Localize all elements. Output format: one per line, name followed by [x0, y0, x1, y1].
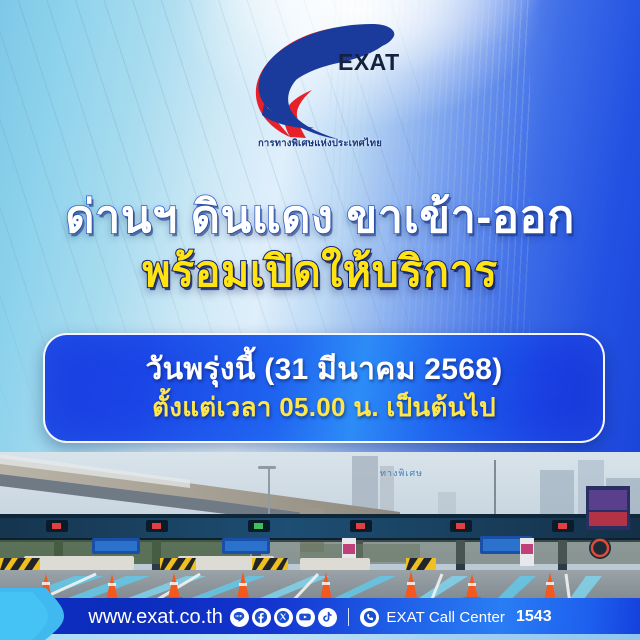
x-twitter-icon[interactable]: [274, 608, 293, 627]
date-info-box: วันพรุ่งนี้ (31 มีนาคม 2568) ตั้งแต่เวลา…: [43, 333, 605, 443]
date-line-1: วันพรุ่งนี้ (31 มีนาคม 2568): [145, 352, 502, 388]
exat-swoosh-logo-icon: EXAT: [240, 20, 400, 140]
toll-plaza-photo: ทางพิเศษ: [0, 452, 640, 604]
wave-accent-icon: [0, 588, 116, 640]
headline-line-2: พร้อมเปิดให้บริการ: [0, 248, 640, 296]
poster-canvas: EXAT การทางพิเศษแห่งประเทศไทย ด่านฯ ดินแ…: [0, 0, 640, 640]
tiktok-icon[interactable]: [318, 608, 337, 627]
headline-block: ด่านฯ ดินแดง ขาเข้า-ออก พร้อมเปิดให้บริก…: [0, 192, 640, 297]
exat-logo: EXAT การทางพิเศษแห่งประเทศไทย: [230, 20, 410, 151]
social-links: [230, 608, 337, 627]
youtube-icon[interactable]: [296, 608, 315, 627]
date-line-2: ตั้งแต่เวลา 05.00 น. เป็นต้นไป: [152, 392, 496, 423]
footer-divider: [348, 608, 350, 626]
headline-line-1: ด่านฯ ดินแดง ขาเข้า-ออก: [0, 192, 640, 242]
call-center-label: EXAT Call Center: [386, 609, 505, 626]
logo-subtitle: การทางพิเศษแห่งประเทศไทย: [230, 136, 410, 151]
facebook-icon[interactable]: [252, 608, 271, 627]
call-center-number[interactable]: 1543: [516, 608, 552, 626]
toll-plaza-illustration: ทางพิเศษ: [0, 452, 640, 604]
line-icon[interactable]: [230, 608, 249, 627]
phone-icon: [360, 608, 379, 627]
svg-text:EXAT: EXAT: [338, 49, 400, 75]
svg-text:ทางพิเศษ: ทางพิเศษ: [380, 468, 423, 478]
